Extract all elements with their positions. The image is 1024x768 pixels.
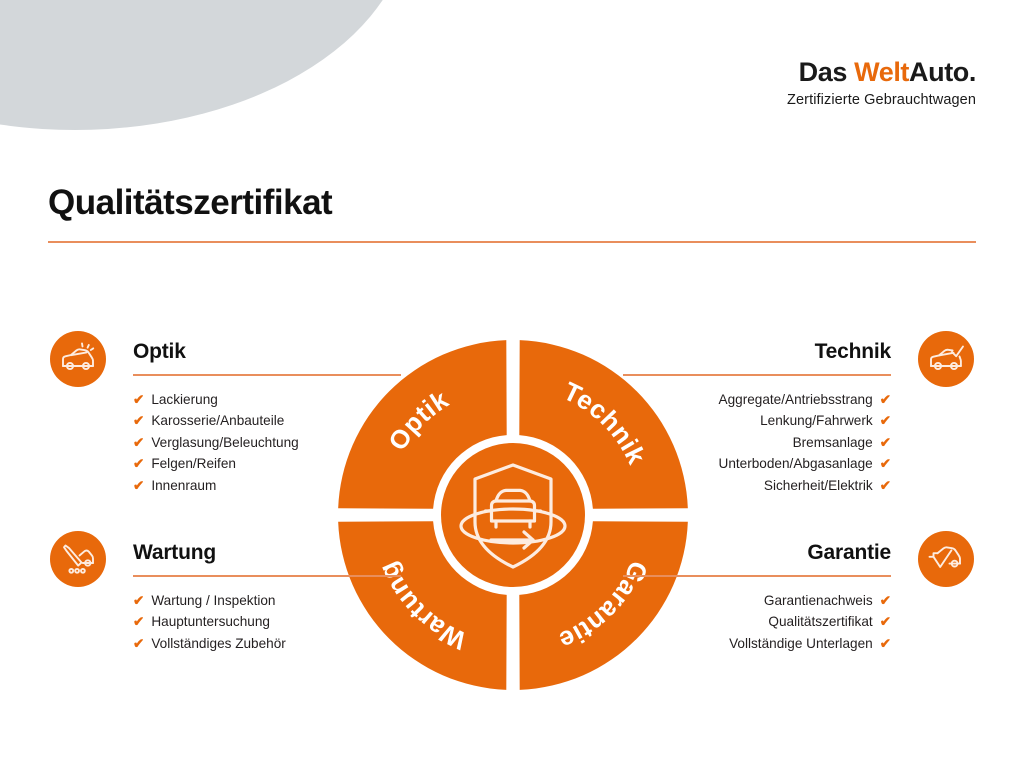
list-item-label: Aggregate/Antriebsstrang xyxy=(719,392,873,407)
list-item: Bremsanlage✔ xyxy=(623,432,891,454)
section-wartung-list: ✔Wartung / Inspektion ✔Hauptuntersuchung… xyxy=(133,590,401,655)
brand-logo: Das WeltAuto. Zertifizierte Gebrauchtwag… xyxy=(787,58,976,108)
car-checkmark-icon xyxy=(918,531,974,587)
list-item-label: Wartung / Inspektion xyxy=(151,593,275,608)
car-wrench-icon xyxy=(50,531,106,587)
check-icon: ✔ xyxy=(133,435,144,450)
section-garantie-heading: Garantie xyxy=(623,541,891,565)
list-item-label: Karosserie/Anbauteile xyxy=(151,413,284,428)
decorative-grey-blob xyxy=(0,0,410,130)
list-item: Lenkung/Fahrwerk✔ xyxy=(623,410,891,432)
list-item: ✔Hauptuntersuchung xyxy=(133,611,401,633)
section-optik-divider xyxy=(133,374,401,376)
brand-logo-suffix: Auto. xyxy=(909,57,976,87)
list-item-label: Innenraum xyxy=(151,478,216,493)
list-item-label: Felgen/Reifen xyxy=(151,456,236,471)
title-block: Qualitätszertifikat xyxy=(48,184,976,243)
check-icon: ✔ xyxy=(133,456,144,471)
list-item-label: Vollständige Unterlagen xyxy=(729,636,873,651)
check-icon: ✔ xyxy=(133,392,144,407)
list-item: Sicherheit/Elektrik✔ xyxy=(623,475,891,497)
check-icon: ✔ xyxy=(880,593,891,608)
list-item-label: Verglasung/Beleuchtung xyxy=(151,435,298,450)
section-optik: Optik ✔Lackierung ✔Karosserie/Anbauteile… xyxy=(133,340,401,496)
list-item: Vollständige Unterlagen✔ xyxy=(623,633,891,655)
check-icon: ✔ xyxy=(880,456,891,471)
check-icon: ✔ xyxy=(133,636,144,651)
check-icon: ✔ xyxy=(880,614,891,629)
check-icon: ✔ xyxy=(880,413,891,428)
check-icon: ✔ xyxy=(133,614,144,629)
certificate-page: Das WeltAuto. Zertifizierte Gebrauchtwag… xyxy=(0,0,1024,768)
title-divider xyxy=(48,241,976,243)
section-optik-list: ✔Lackierung ✔Karosserie/Anbauteile ✔Verg… xyxy=(133,389,401,497)
section-wartung: Wartung ✔Wartung / Inspektion ✔Hauptunte… xyxy=(133,541,401,654)
check-icon: ✔ xyxy=(880,392,891,407)
check-icon: ✔ xyxy=(880,636,891,651)
list-item: Aggregate/Antriebsstrang✔ xyxy=(623,389,891,411)
car-shine-icon xyxy=(50,331,106,387)
list-item: Garantienachweis✔ xyxy=(623,590,891,612)
list-item: ✔Lackierung xyxy=(133,389,401,411)
list-item-label: Unterboden/Abgasanlage xyxy=(719,456,873,471)
section-wartung-divider xyxy=(133,575,401,577)
list-item-label: Lenkung/Fahrwerk xyxy=(760,413,873,428)
section-technik-heading: Technik xyxy=(623,340,891,364)
check-icon: ✔ xyxy=(880,435,891,450)
car-check-sweep-icon xyxy=(918,331,974,387)
check-icon: ✔ xyxy=(133,478,144,493)
list-item: ✔Vollständiges Zubehör xyxy=(133,633,401,655)
list-item-label: Hauptuntersuchung xyxy=(151,614,270,629)
section-wartung-heading: Wartung xyxy=(133,541,401,565)
list-item: ✔Wartung / Inspektion xyxy=(133,590,401,612)
list-item: Qualitätszertifikat✔ xyxy=(623,611,891,633)
list-item: ✔Felgen/Reifen xyxy=(133,453,401,475)
list-item-label: Lackierung xyxy=(151,392,218,407)
section-optik-heading: Optik xyxy=(133,340,401,364)
section-technik-list: Aggregate/Antriebsstrang✔ Lenkung/Fahrwe… xyxy=(623,389,891,497)
list-item: ✔Karosserie/Anbauteile xyxy=(133,410,401,432)
check-icon: ✔ xyxy=(133,413,144,428)
brand-tagline: Zertifizierte Gebrauchtwagen xyxy=(787,92,976,108)
list-item-label: Garantienachweis xyxy=(764,593,873,608)
brand-logo-prefix: Das xyxy=(799,57,854,87)
check-icon: ✔ xyxy=(880,478,891,493)
section-garantie: Garantie Garantienachweis✔ Qualitätszert… xyxy=(623,541,891,654)
list-item-label: Sicherheit/Elektrik xyxy=(764,478,873,493)
list-item: Unterboden/Abgasanlage✔ xyxy=(623,453,891,475)
check-icon: ✔ xyxy=(133,593,144,608)
section-technik: Technik Aggregate/Antriebsstrang✔ Lenkun… xyxy=(623,340,891,496)
list-item-label: Qualitätszertifikat xyxy=(768,614,872,629)
list-item-label: Vollständiges Zubehör xyxy=(151,636,286,651)
page-title: Qualitätszertifikat xyxy=(48,184,976,223)
list-item: ✔Verglasung/Beleuchtung xyxy=(133,432,401,454)
brand-logo-wordmark: Das WeltAuto. xyxy=(787,58,976,88)
brand-logo-accent: Welt xyxy=(854,57,909,87)
section-garantie-divider xyxy=(623,575,891,577)
section-garantie-list: Garantienachweis✔ Qualitätszertifikat✔ V… xyxy=(623,590,891,655)
section-technik-divider xyxy=(623,374,891,376)
list-item-label: Bremsanlage xyxy=(793,435,873,450)
list-item: ✔Innenraum xyxy=(133,475,401,497)
